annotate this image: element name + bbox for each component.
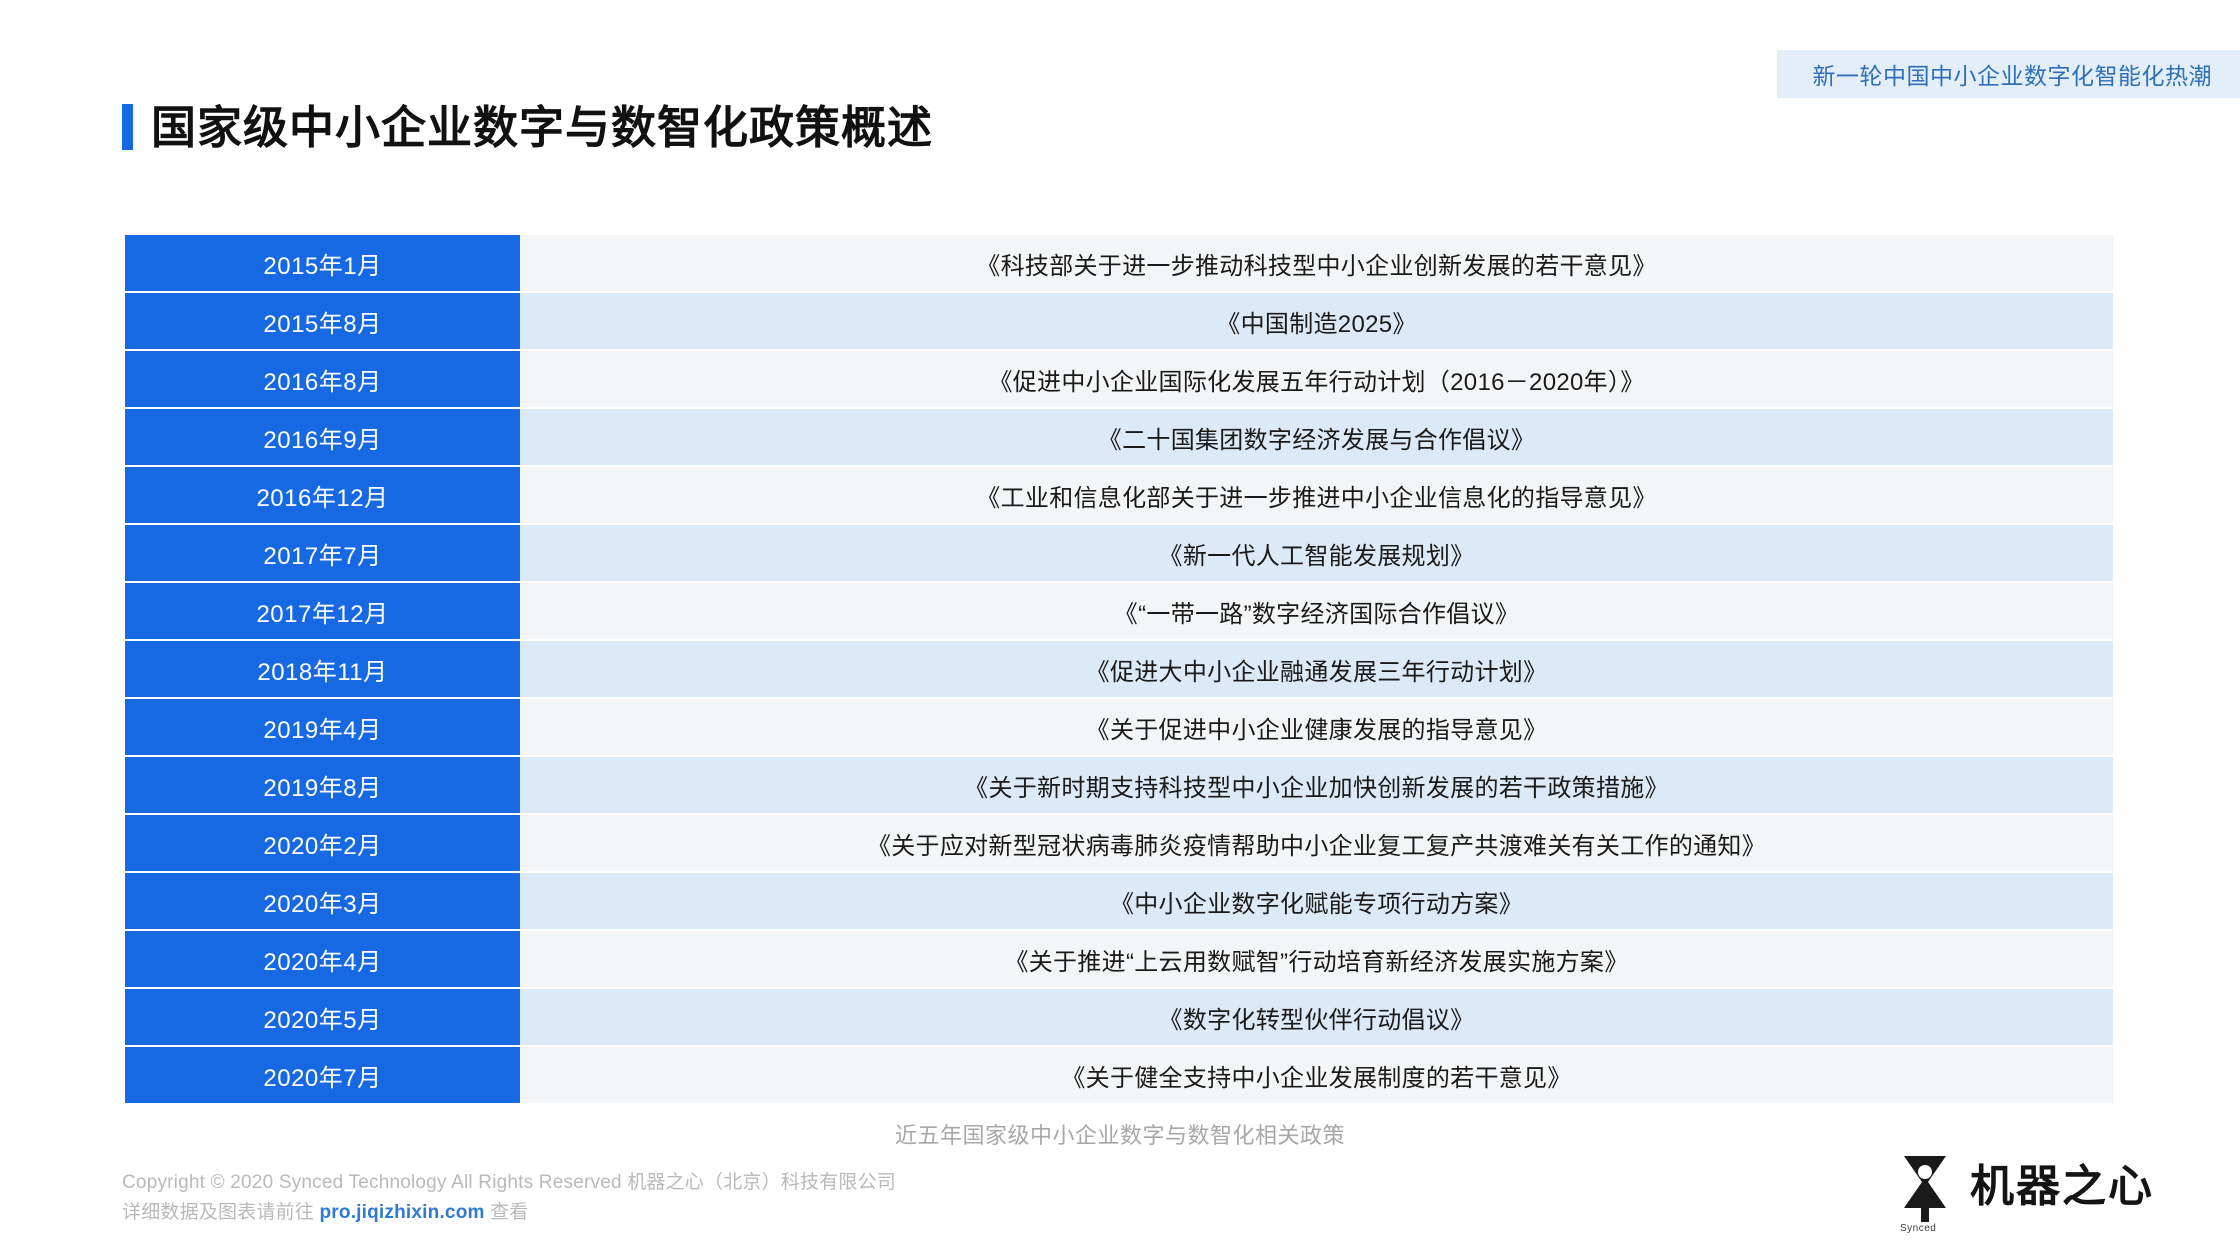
table-row: 2017年7月《新一代人工智能发展规划》 bbox=[125, 525, 2113, 581]
page-title: 国家级中小企业数字与数智化政策概述 bbox=[151, 105, 933, 150]
row-policy-cell: 《中国制造2025》 bbox=[520, 293, 2113, 349]
row-policy-cell: 《中小企业数字化赋能专项行动方案》 bbox=[520, 873, 2113, 929]
brand-logo: Synced 机器之心 bbox=[1894, 1152, 2154, 1230]
header-tag: 新一轮中国中小企业数字化智能化热潮 bbox=[1777, 50, 2240, 98]
footer: Copyright © 2020 Synced Technology All R… bbox=[122, 1168, 896, 1228]
header-tag-label: 新一轮中国中小企业数字化智能化热潮 bbox=[1813, 57, 2213, 91]
row-policy-cell: 《关于促进中小企业健康发展的指导意见》 bbox=[520, 699, 2113, 755]
row-date-cell: 2017年12月 bbox=[125, 583, 520, 639]
table-row: 2019年8月《关于新时期支持科技型中小企业加快创新发展的若干政策措施》 bbox=[125, 757, 2113, 813]
table-caption: 近五年国家级中小企业数字与数智化相关政策 bbox=[0, 1118, 2240, 1150]
table-row: 2020年5月《数字化转型伙伴行动倡议》 bbox=[125, 989, 2113, 1045]
logo-wordmark: 机器之心 bbox=[1970, 1165, 2154, 1217]
row-date-cell: 2020年3月 bbox=[125, 873, 520, 929]
row-date-cell: 2020年4月 bbox=[125, 931, 520, 987]
table-row: 2018年11月《促进大中小企业融通发展三年行动计划》 bbox=[125, 641, 2113, 697]
row-policy-cell: 《科技部关于进一步推动科技型中小企业创新发展的若干意见》 bbox=[520, 235, 2113, 291]
row-policy-cell: 《促进中小企业国际化发展五年行动计划（2016－2020年）》 bbox=[520, 351, 2113, 407]
row-policy-cell: 《工业和信息化部关于进一步推进中小企业信息化的指导意见》 bbox=[520, 467, 2113, 523]
row-policy-cell: 《数字化转型伙伴行动倡议》 bbox=[520, 989, 2113, 1045]
row-policy-cell: 《新一代人工智能发展规划》 bbox=[520, 525, 2113, 581]
table-row: 2019年4月《关于促进中小企业健康发展的指导意见》 bbox=[125, 699, 2113, 755]
row-date-cell: 2017年7月 bbox=[125, 525, 520, 581]
footer-link-suffix: 查看 bbox=[485, 1202, 529, 1223]
row-date-cell: 2019年4月 bbox=[125, 699, 520, 755]
row-policy-cell: 《二十国集团数字经济发展与合作倡议》 bbox=[520, 409, 2113, 465]
row-date-cell: 2020年2月 bbox=[125, 815, 520, 871]
table-row: 2015年1月《科技部关于进一步推动科技型中小企业创新发展的若干意见》 bbox=[125, 235, 2113, 291]
table-row: 2017年12月《“一带一路”数字经济国际合作倡议》 bbox=[125, 583, 2113, 639]
row-policy-cell: 《关于健全支持中小企业发展制度的若干意见》 bbox=[520, 1047, 2113, 1103]
row-policy-cell: 《关于新时期支持科技型中小企业加快创新发展的若干政策措施》 bbox=[520, 757, 2113, 813]
table-row: 2020年2月《关于应对新型冠状病毒肺炎疫情帮助中小企业复工复产共渡难关有关工作… bbox=[125, 815, 2113, 871]
page-title-group: 国家级中小企业数字与数智化政策概述 bbox=[122, 104, 933, 150]
footer-link[interactable]: pro.jiqizhixin.com bbox=[319, 1202, 484, 1223]
policy-table: 2015年1月《科技部关于进一步推动科技型中小企业创新发展的若干意见》2015年… bbox=[125, 235, 2113, 1105]
row-date-cell: 2016年12月 bbox=[125, 467, 520, 523]
row-date-cell: 2019年8月 bbox=[125, 757, 520, 813]
row-policy-cell: 《关于应对新型冠状病毒肺炎疫情帮助中小企业复工复产共渡难关有关工作的通知》 bbox=[520, 815, 2113, 871]
row-date-cell: 2016年9月 bbox=[125, 409, 520, 465]
row-date-cell: 2015年1月 bbox=[125, 235, 520, 291]
table-row: 2016年9月《二十国集团数字经济发展与合作倡议》 bbox=[125, 409, 2113, 465]
table-row: 2016年8月《促进中小企业国际化发展五年行动计划（2016－2020年）》 bbox=[125, 351, 2113, 407]
title-accent-bar bbox=[122, 104, 133, 150]
row-date-cell: 2016年8月 bbox=[125, 351, 520, 407]
footer-link-prefix: 详细数据及图表请前往 bbox=[122, 1202, 319, 1223]
row-date-cell: 2020年7月 bbox=[125, 1047, 520, 1103]
logo-sub-label: Synced bbox=[1900, 1223, 1936, 1234]
row-date-cell: 2015年8月 bbox=[125, 293, 520, 349]
row-policy-cell: 《促进大中小企业融通发展三年行动计划》 bbox=[520, 641, 2113, 697]
footer-copyright: Copyright © 2020 Synced Technology All R… bbox=[122, 1168, 896, 1198]
table-row: 2020年4月《关于推进“上云用数赋智”行动培育新经济发展实施方案》 bbox=[125, 931, 2113, 987]
table-row: 2016年12月《工业和信息化部关于进一步推进中小企业信息化的指导意见》 bbox=[125, 467, 2113, 523]
row-policy-cell: 《关于推进“上云用数赋智”行动培育新经济发展实施方案》 bbox=[520, 931, 2113, 987]
table-row: 2020年7月《关于健全支持中小企业发展制度的若干意见》 bbox=[125, 1047, 2113, 1103]
table-row: 2020年3月《中小企业数字化赋能专项行动方案》 bbox=[125, 873, 2113, 929]
table-row: 2015年8月《中国制造2025》 bbox=[125, 293, 2113, 349]
footer-link-line: 详细数据及图表请前往 pro.jiqizhixin.com 查看 bbox=[122, 1198, 896, 1228]
synced-logo-icon: Synced bbox=[1894, 1152, 1956, 1230]
row-policy-cell: 《“一带一路”数字经济国际合作倡议》 bbox=[520, 583, 2113, 639]
row-date-cell: 2018年11月 bbox=[125, 641, 520, 697]
row-date-cell: 2020年5月 bbox=[125, 989, 520, 1045]
